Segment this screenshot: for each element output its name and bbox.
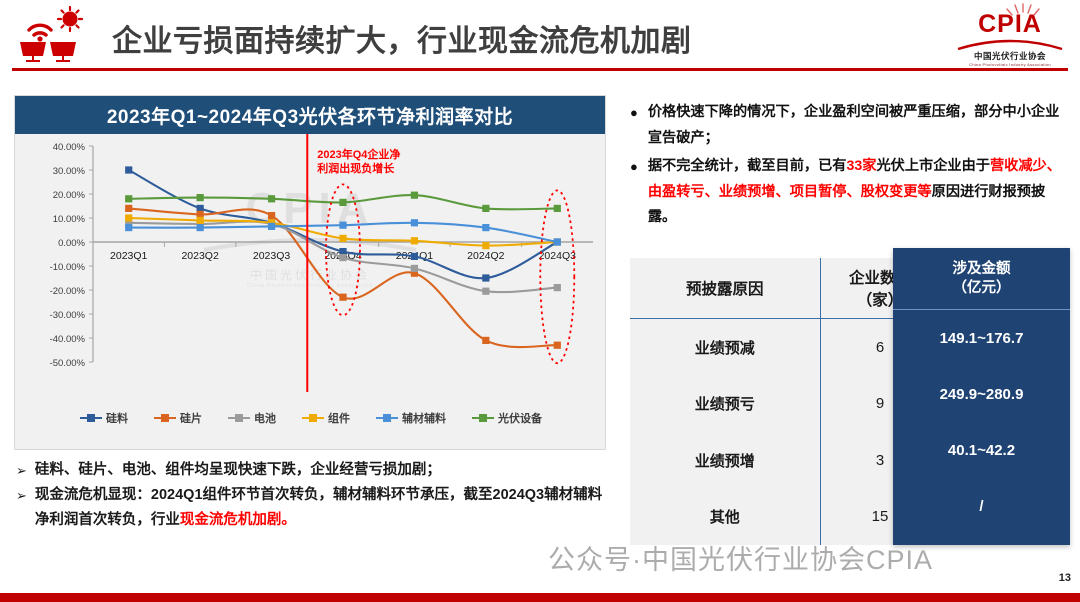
cpia-logo-cn: 中国光伏行业协会: [952, 50, 1068, 62]
bullet-marker-icon: ●: [630, 154, 638, 231]
cpia-logo-en: China Photovoltaic Industry Association: [952, 62, 1068, 67]
series-marker: [268, 195, 275, 202]
series-marker: [411, 253, 418, 260]
series-marker: [125, 205, 132, 212]
legend-item: 硅片: [154, 410, 202, 426]
th-reason: 预披露原因: [630, 258, 820, 319]
chart-title: 2023年Q1~2024年Q3光伏各环节净利润率对比: [15, 96, 605, 134]
legend-item: 电池: [228, 410, 276, 426]
cell-reason: 业绩预增: [630, 432, 820, 489]
bullet-item: ●价格快速下降的情况下，企业盈利空间被严重压缩，部分中小企业宣告破产；: [630, 100, 1070, 151]
series-marker: [125, 166, 132, 173]
bullet-text: 价格快速下降的情况下，企业盈利空间被严重压缩，部分中小企业宣告破产；: [648, 100, 1070, 151]
slide-root: 企业亏损面持续扩大，行业现金流危机加剧 CPIA 中国光伏行业协会 China …: [0, 0, 1080, 602]
bullet-text-segment: 现金流危机显现：2024Q1组件环节首次转负，辅材辅料环节承压，截至2024Q3…: [35, 487, 602, 528]
series-marker: [482, 224, 489, 231]
legend-item: 光伏设备: [472, 410, 542, 426]
line-chart-svg: 40.00%30.00%20.00%10.00%0.00%-10.00%-20.…: [15, 134, 607, 410]
chart-plot-area: CPIA 中国光伏行业协会 China Photovoltaic Industr…: [15, 134, 607, 450]
legend-label: 电池: [254, 410, 276, 426]
y-axis-tick-label: 30.00%: [53, 166, 86, 177]
bullet-text: 现金流危机显现：2024Q1组件环节首次转负，辅材辅料环节承压，截至2024Q3…: [35, 483, 616, 533]
series-marker: [268, 212, 275, 219]
amount-column: 涉及金额 （亿元） 149.1~176.7249.9~280.940.1~42.…: [893, 248, 1070, 545]
series-marker: [554, 342, 561, 349]
legend-swatch-icon: [472, 417, 494, 419]
x-axis-tick-label: 2024Q3: [539, 250, 577, 262]
series-marker: [482, 337, 489, 344]
legend-item: 硅料: [80, 410, 128, 426]
x-axis-tick-label: 2024Q2: [467, 250, 505, 262]
legend-label: 硅料: [106, 410, 128, 426]
legend-marker-icon: [309, 414, 317, 422]
bullet-text-highlight: 现金流危机加剧。: [180, 512, 296, 528]
bullet-text-segment: 光伏上市企业由于: [876, 158, 990, 174]
cell-amount: 149.1~176.7: [893, 310, 1070, 366]
highlight-ellipse-2024Q3: [540, 190, 574, 363]
bullet-item: ●据不完全统计，截至目前，已有33家光伏上市企业由于营收减少、由盈转亏、业绩预增…: [630, 154, 1070, 231]
y-axis-tick-label: -20.00%: [50, 286, 86, 297]
cell-amount: 40.1~42.2: [893, 422, 1070, 478]
series-marker: [411, 265, 418, 272]
cell-amount: /: [893, 478, 1070, 534]
bullet-marker-icon: ➢: [16, 483, 27, 533]
series-marker: [411, 219, 418, 226]
bullet-item: ➢现金流危机显现：2024Q1组件环节首次转负，辅材辅料环节承压，截至2024Q…: [16, 483, 616, 533]
series-marker: [482, 205, 489, 212]
slide-header: 企业亏损面持续扩大，行业现金流危机加剧 CPIA 中国光伏行业协会 China …: [0, 0, 1080, 72]
series-marker: [482, 288, 489, 295]
solar-panel-sun-icon: [12, 6, 90, 64]
chart-legend: 硅料硅片电池组件辅材辅料光伏设备: [15, 410, 607, 426]
bullet-text-highlight: 33家: [847, 158, 877, 174]
series-marker: [339, 294, 346, 301]
series-marker: [125, 214, 132, 221]
page-title: 企业亏损面持续扩大，行业现金流危机加剧: [112, 16, 692, 60]
header-divider: [12, 68, 1068, 71]
series-marker: [125, 224, 132, 231]
legend-item: 辅材辅料: [376, 410, 446, 426]
series-marker: [268, 223, 275, 230]
series-marker: [411, 192, 418, 199]
legend-label: 光伏设备: [498, 410, 542, 426]
right-bullet-list: ●价格快速下降的情况下，企业盈利空间被严重压缩，部分中小企业宣告破产；●据不完全…: [630, 100, 1070, 234]
series-marker: [554, 238, 561, 245]
cell-reason: 其他: [630, 488, 820, 545]
bullet-marker-icon: ●: [630, 100, 638, 151]
x-axis-tick-label: 2023Q2: [181, 250, 219, 262]
y-axis-tick-label: -10.00%: [50, 262, 86, 273]
legend-marker-icon: [161, 414, 169, 422]
amount-header-line2: （亿元）: [893, 279, 1070, 298]
amount-column-header: 涉及金额 （亿元）: [893, 248, 1070, 310]
y-axis-tick-label: 0.00%: [58, 238, 85, 249]
series-marker: [339, 235, 346, 242]
bullet-text-segment: 价格快速下降的情况下，企业盈利空间被严重压缩，部分中小企业宣告破产；: [648, 104, 1059, 146]
legend-swatch-icon: [228, 417, 250, 419]
legend-item: 组件: [302, 410, 350, 426]
annotation-text-line1: 2023年Q4企业净: [317, 147, 400, 161]
bullet-text-segment: 据不完全统计，截至目前，已有: [648, 158, 847, 174]
series-marker: [411, 237, 418, 244]
series-marker: [339, 222, 346, 229]
legend-swatch-icon: [302, 417, 324, 419]
bullet-text-segment: 硅料、硅片、电池、组件均呈现快速下跌，企业经营亏损加剧；: [35, 462, 441, 478]
bullet-text: 据不完全统计，截至目前，已有33家光伏上市企业由于营收减少、由盈转亏、业绩预增、…: [648, 154, 1070, 231]
legend-label: 辅材辅料: [402, 410, 446, 426]
y-axis-tick-label: -30.00%: [50, 310, 86, 321]
y-axis-tick-label: 10.00%: [53, 214, 86, 225]
series-marker: [125, 195, 132, 202]
series-marker: [339, 254, 346, 261]
series-marker: [197, 217, 204, 224]
cell-reason: 业绩预减: [630, 319, 820, 376]
bullet-item: ➢硅料、硅片、电池、组件均呈现快速下跌，企业经营亏损加剧；: [16, 458, 616, 483]
bullet-text: 硅料、硅片、电池、组件均呈现快速下跌，企业经营亏损加剧；: [35, 458, 441, 483]
x-axis-tick-label: 2023Q1: [110, 250, 148, 262]
series-marker: [197, 224, 204, 231]
cell-reason: 业绩预亏: [630, 375, 820, 432]
y-axis-tick-label: 20.00%: [53, 190, 86, 201]
cpia-logo: CPIA 中国光伏行业协会 China Photovoltaic Industr…: [952, 2, 1068, 64]
legend-marker-icon: [235, 414, 243, 422]
cell-amount: 249.9~280.9: [893, 366, 1070, 422]
bottom-accent-bar: [0, 593, 1080, 602]
page-number: 13: [1059, 572, 1071, 584]
series-marker: [482, 242, 489, 249]
legend-marker-icon: [383, 414, 391, 422]
series-marker: [554, 205, 561, 212]
bullet-marker-icon: ➢: [16, 458, 27, 483]
chart-card: 2023年Q1~2024年Q3光伏各环节净利润率对比 CPIA 中国光伏行业协会…: [14, 95, 606, 450]
left-bullet-list: ➢硅料、硅片、电池、组件均呈现快速下跌，企业经营亏损加剧；➢现金流危机显现：20…: [16, 458, 616, 533]
legend-swatch-icon: [376, 417, 398, 419]
series-marker: [482, 274, 489, 281]
series-marker: [554, 284, 561, 291]
y-axis-tick-label: 40.00%: [53, 142, 86, 153]
legend-marker-icon: [479, 414, 487, 422]
series-marker: [197, 194, 204, 201]
amount-header-line1: 涉及金额: [893, 260, 1070, 279]
annotation-text-line2: 利润出现负增长: [317, 161, 395, 175]
y-axis-tick-label: -50.00%: [50, 358, 86, 369]
x-axis-tick-label: 2023Q3: [253, 250, 291, 262]
legend-label: 组件: [328, 410, 350, 426]
y-axis-tick-label: -40.00%: [50, 334, 86, 345]
legend-marker-icon: [87, 414, 95, 422]
legend-swatch-icon: [154, 417, 176, 419]
legend-swatch-icon: [80, 417, 102, 419]
series-marker: [339, 199, 346, 206]
legend-label: 硅片: [180, 410, 202, 426]
